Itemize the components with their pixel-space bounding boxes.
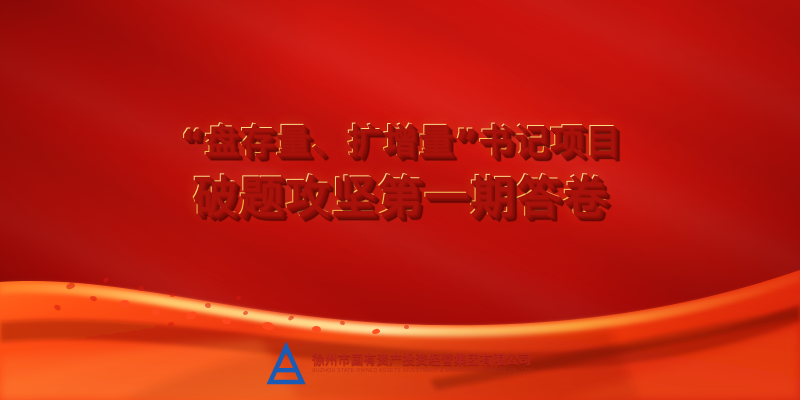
company-name-en: XUZHOU STATE-OWNED ASSETS INVESTMENT & M…: [312, 369, 534, 374]
banner-canvas: “盘存量、扩增量”书记项目 破题攻坚第一期答卷 徐州市国有资产投资经营集团有限公…: [0, 0, 800, 400]
title-line-1-text: “盘存量、扩增量”书记项目: [180, 121, 621, 161]
confetti-petal: [170, 293, 175, 297]
title-block: “盘存量、扩增量”书记项目 破题攻坚第一期答卷: [0, 124, 800, 219]
confetti-petal: [404, 325, 409, 330]
triangle-delta-mark-icon: [266, 342, 306, 386]
company-logo: 徐州市国有资产投资经营集团有限公司 XUZHOU STATE-OWNED ASS…: [266, 342, 534, 386]
title-line-2-text: 破题攻坚第一期答卷: [192, 171, 608, 222]
company-name-block: 徐州市国有资产投资经营集团有限公司 XUZHOU STATE-OWNED ASS…: [312, 354, 534, 374]
title-line-2: 破题攻坚第一期答卷: [0, 175, 800, 219]
company-name-cn: 徐州市国有资产投资经营集团有限公司: [312, 354, 534, 367]
title-line-1: “盘存量、扩增量”书记项目: [0, 124, 800, 158]
